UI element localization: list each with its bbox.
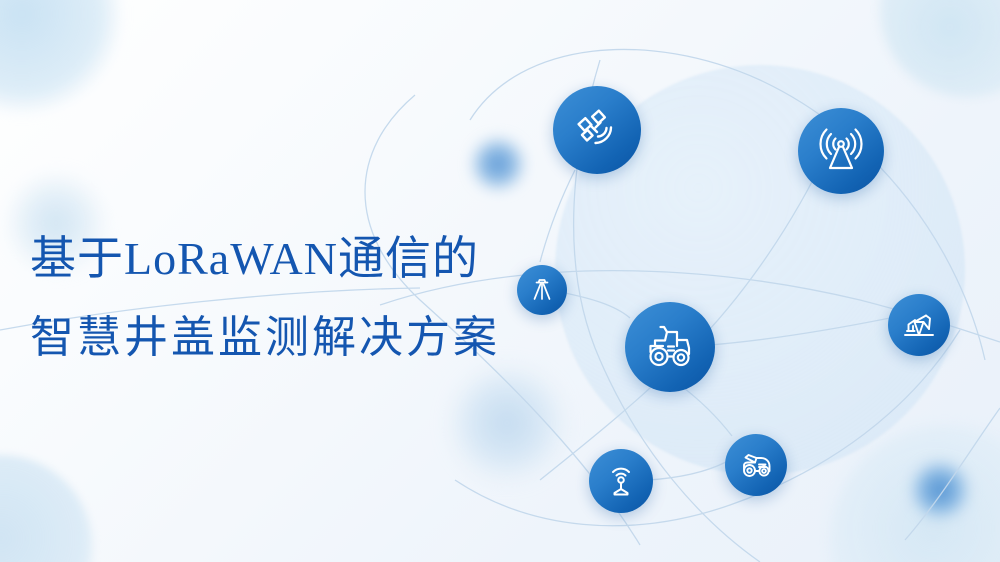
wireless-sensor-icon	[601, 461, 641, 501]
slide-title: 基于LoRaWAN通信的 智慧井盖监测解决方案	[30, 228, 500, 369]
node-oil-pumpjack[interactable]	[888, 294, 950, 356]
title-line-2: 智慧井盖监测解决方案	[30, 307, 500, 369]
title-line-1: 基于LoRaWAN通信的	[30, 228, 500, 290]
node-harvester[interactable]	[725, 434, 787, 496]
node-wireless-sensor[interactable]	[589, 449, 653, 513]
node-survey-tripod[interactable]	[517, 265, 567, 315]
radio-tower-icon	[815, 125, 867, 177]
title-slide: 基于LoRaWAN通信的 智慧井盖监测解决方案	[0, 0, 1000, 562]
harvester-icon	[736, 445, 776, 485]
node-tractor[interactable]	[625, 302, 715, 392]
node-satellite-dish[interactable]	[553, 86, 641, 174]
satellite-dish-icon	[570, 103, 624, 157]
oil-pumpjack-icon	[899, 305, 939, 345]
tractor-icon	[641, 318, 699, 376]
node-radio-tower[interactable]	[798, 108, 884, 194]
survey-tripod-icon	[527, 275, 557, 305]
